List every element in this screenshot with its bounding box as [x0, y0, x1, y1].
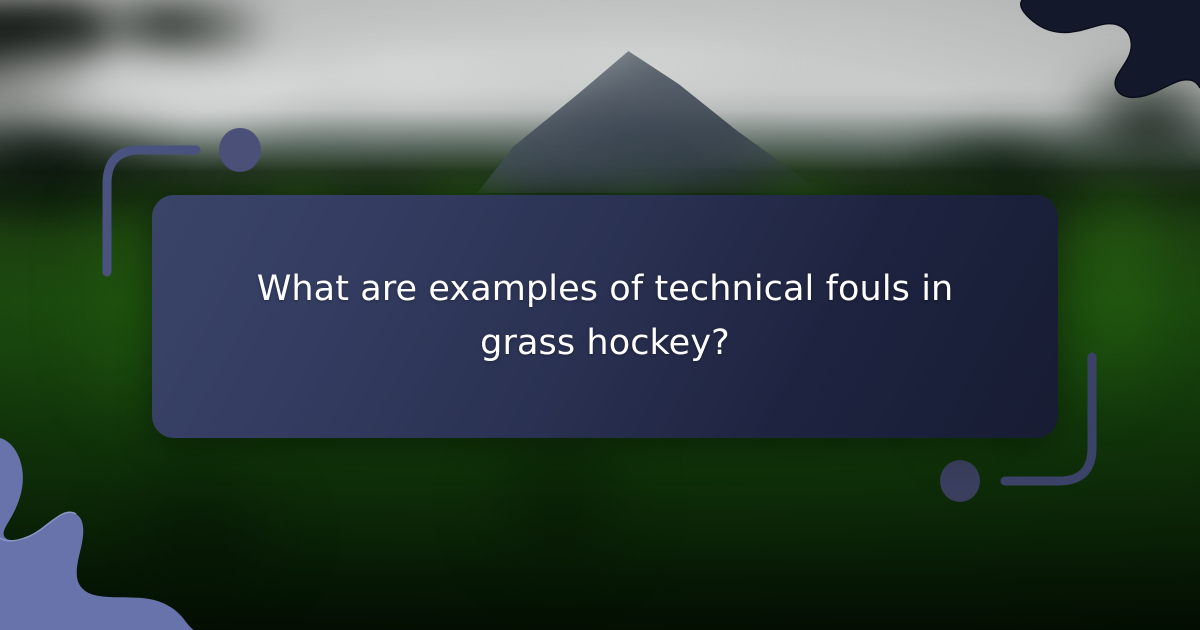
- blob-bottom-left-icon: [0, 430, 232, 630]
- question-card: What are examples of technical fouls in …: [152, 195, 1058, 438]
- screenshot-canvas: What are examples of technical fouls in …: [0, 0, 1200, 630]
- question-text: What are examples of technical fouls in …: [210, 263, 1000, 369]
- blob-top-right-icon: [1000, 0, 1200, 122]
